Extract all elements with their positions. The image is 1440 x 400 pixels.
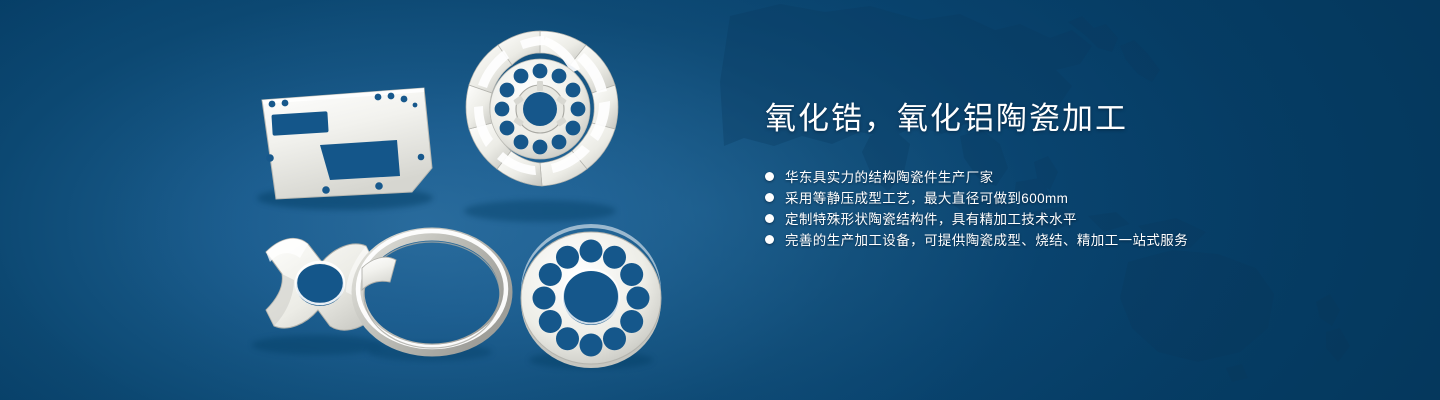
feature-text: 定制特殊形状陶瓷结构件，具有精加工技术水平 [785,208,1077,228]
feature-item: 完善的生产加工设备，可提供陶瓷成型、烧结、精加工一站式服务 [765,229,1385,250]
product-bladed-impeller-disc [464,31,618,222]
hero-banner: 氧化锆，氧化铝陶瓷加工 华东具实力的结构陶瓷件生产厂家 采用等静压成型工艺，最大… [0,0,1440,400]
headline: 氧化锆，氧化铝陶瓷加工 [765,100,1385,139]
feature-item: 采用等静压成型工艺，最大直径可做到600mm [765,187,1385,208]
bullet-dot-icon [765,235,774,244]
product-ceramic-ring [358,231,506,361]
bullet-dot-icon [765,214,774,223]
bullet-dot-icon [765,193,774,202]
feature-item: 华东具实力的结构陶瓷件生产厂家 [765,166,1385,187]
bullet-dot-icon [765,172,774,181]
feature-list: 华东具实力的结构陶瓷件生产厂家 采用等静压成型工艺，最大直径可做到600mm 定… [765,166,1385,250]
product-photo-cluster [0,0,720,400]
copy-block: 氧化锆，氧化铝陶瓷加工 华东具实力的结构陶瓷件生产厂家 采用等静压成型工艺，最大… [765,100,1385,250]
feature-text: 采用等静压成型工艺，最大直径可做到600mm [785,187,1068,207]
product-perforated-ring-plate [521,224,661,369]
feature-text: 完善的生产加工设备，可提供陶瓷成型、烧结、精加工一站式服务 [785,229,1188,249]
product-ceramic-plate [257,88,433,210]
feature-text: 华东具实力的结构陶瓷件生产厂家 [785,166,994,186]
feature-item: 定制特殊形状陶瓷结构件，具有精加工技术水平 [765,208,1385,229]
